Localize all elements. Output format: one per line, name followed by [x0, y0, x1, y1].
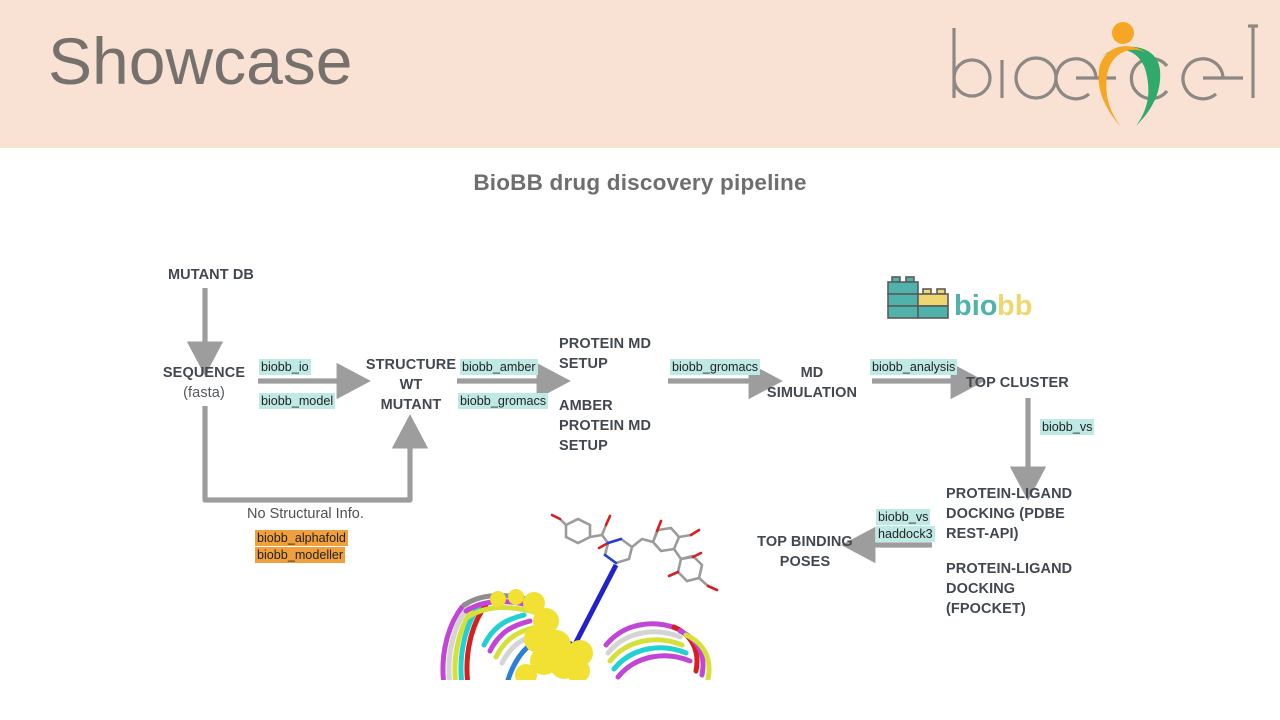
- arrow-no-structural-info-loop: [205, 406, 410, 500]
- tag-biobb-modeller: biobb_modeller: [255, 547, 345, 563]
- pipeline-diagram: MUTANT DB SEQUENCE (fasta) STRUCTURE WT …: [0, 0, 1280, 720]
- node-amber-protein-md-setup: AMBER PROTEIN MD SETUP: [559, 396, 689, 456]
- protein-cartoon-right: [606, 624, 709, 679]
- tag-biobb-io: biobb_io: [259, 359, 311, 375]
- tag-biobb-amber: biobb_amber: [460, 359, 538, 375]
- node-top-cluster: TOP CLUSTER: [966, 373, 1106, 393]
- tag-haddock3: haddock3: [876, 526, 935, 542]
- tag-biobb-vs-docking: biobb_vs: [876, 509, 930, 525]
- node-mutant-db: MUTANT DB: [126, 265, 254, 285]
- biobb-logo: bio bb: [884, 275, 1044, 327]
- node-structure-wt-mutant: STRUCTURE WT MUTANT: [352, 355, 470, 415]
- tag-biobb-model: biobb_model: [259, 393, 335, 409]
- biobb-wordmark-bio: bio: [954, 290, 998, 322]
- biobb-brick-stack: [888, 277, 948, 318]
- node-protein-ligand-docking-fpocket: PROTEIN-LIGAND DOCKING (FPOCKET): [946, 559, 1106, 619]
- protein-ligand-complex-figure: [438, 495, 723, 680]
- biobb-wordmark-bb: bb: [997, 290, 1032, 322]
- ligand-sticks: [560, 519, 708, 586]
- tag-biobb-vs: biobb_vs: [1040, 419, 1094, 435]
- ligand-nitrogens: [605, 539, 621, 563]
- node-top-binding-poses: TOP BINDING POSES: [744, 532, 866, 572]
- node-protein-ligand-docking-pdbe: PROTEIN-LIGAND DOCKING (PDBE REST-API): [946, 484, 1106, 544]
- biobb-logo-svg: bio bb: [884, 275, 1044, 327]
- label-no-structural-info: No Structural Info.: [247, 506, 364, 522]
- node-sequence: SEQUENCE (fasta): [140, 363, 268, 403]
- tag-biobb-gromacs-setup: biobb_gromacs: [458, 393, 548, 409]
- molecule-svg: [438, 495, 723, 680]
- tag-biobb-alphafold: biobb_alphafold: [255, 530, 348, 546]
- tag-biobb-gromacs-md: biobb_gromacs: [670, 359, 760, 375]
- tag-biobb-analysis: biobb_analysis: [870, 359, 957, 375]
- node-md-simulation: MD SIMULATION: [757, 363, 867, 403]
